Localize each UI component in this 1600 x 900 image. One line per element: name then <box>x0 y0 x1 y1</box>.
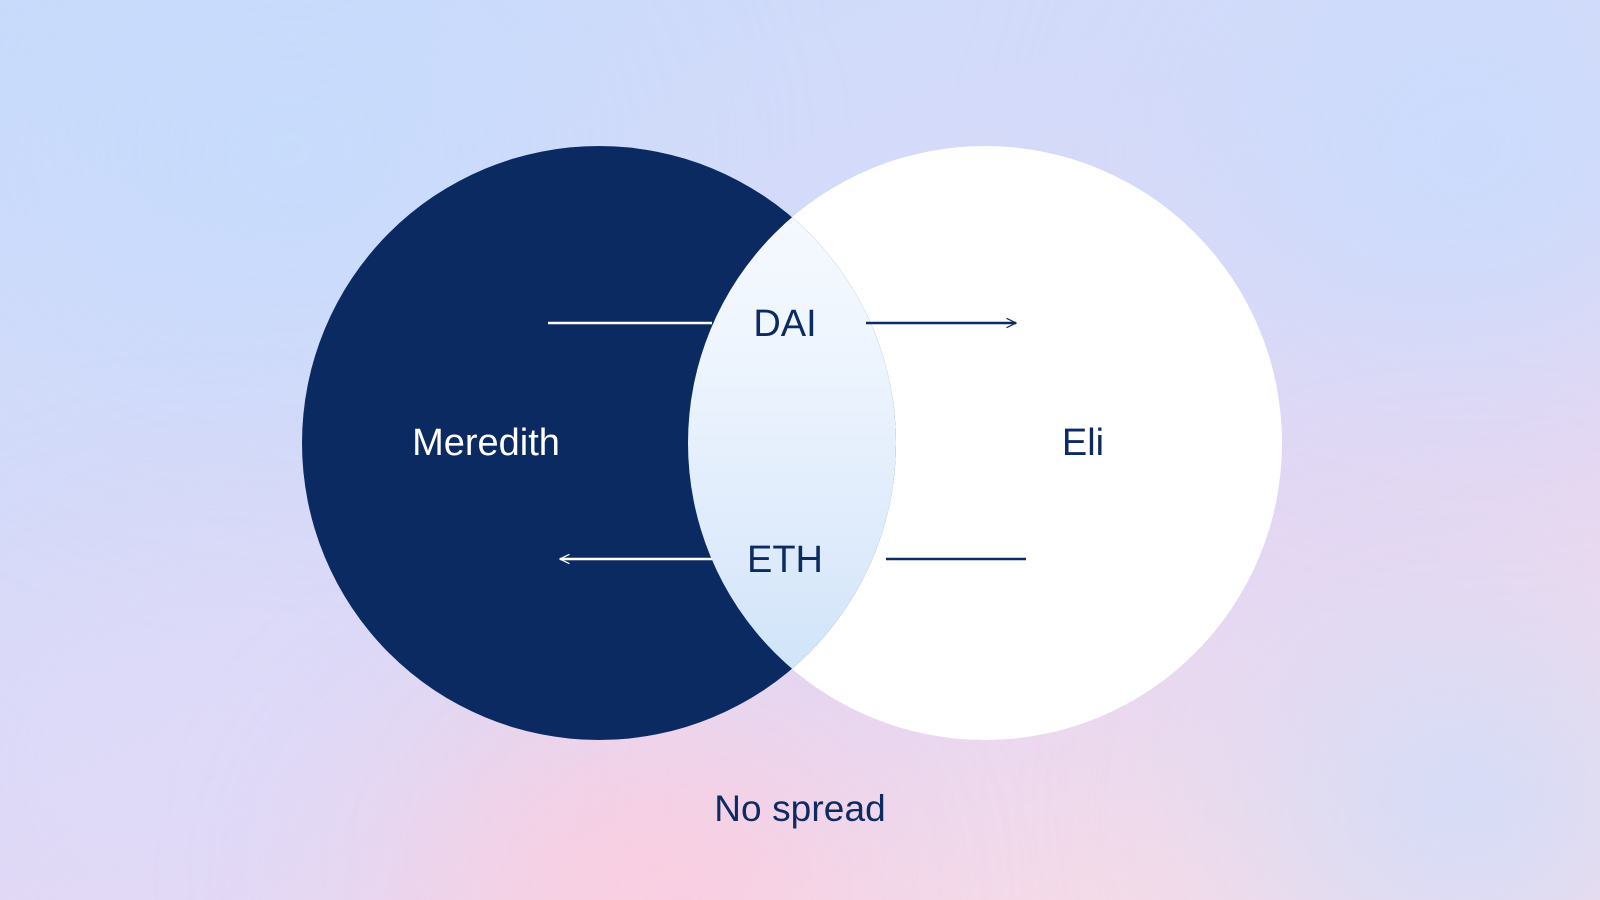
circle-label-eli: Eli <box>1062 422 1104 464</box>
token-label-dai: DAI <box>753 303 816 345</box>
caption-no-spread: No spread <box>0 788 1600 830</box>
circle-label-meredith: Meredith <box>412 422 560 464</box>
diagram-canvas: Meredith Eli DAI ETH No spread <box>0 0 1600 900</box>
venn-diagram: Meredith Eli DAI ETH <box>0 0 1600 900</box>
token-label-eth: ETH <box>747 539 823 581</box>
